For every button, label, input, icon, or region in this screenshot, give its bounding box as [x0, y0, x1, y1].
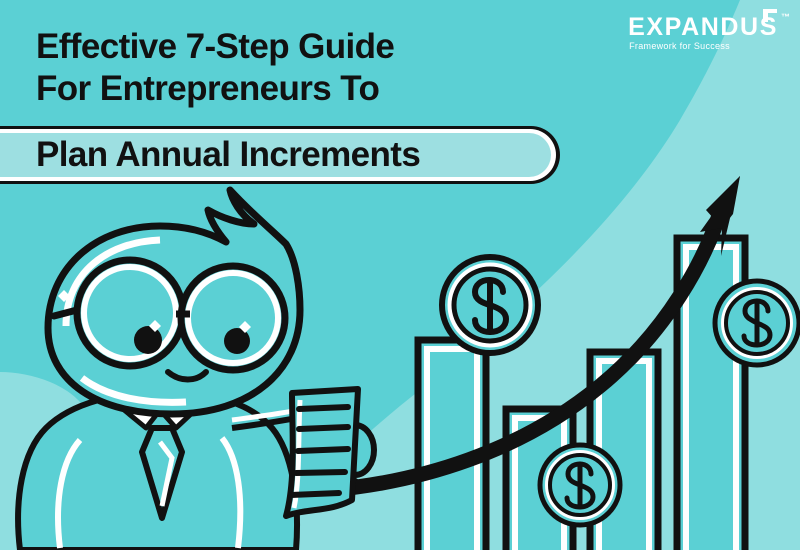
- headline-highlight-text: Plan Annual Increments: [36, 126, 420, 184]
- logo-wordmark: EXPANDUS: [628, 14, 778, 40]
- mascot-glasses-left: [77, 260, 183, 366]
- headline-block: Effective 7-Step Guide For Entrepreneurs…: [36, 26, 576, 110]
- mascot-glasses-right: [181, 266, 285, 370]
- headline-highlight-band: Plan Annual Increments: [0, 126, 560, 184]
- logo-trademark-icon: ™: [781, 12, 790, 22]
- chart-bar-1: [418, 340, 486, 550]
- logo-flag-icon: [762, 8, 778, 24]
- coin-2: [540, 445, 620, 525]
- coin-3: [715, 281, 799, 365]
- mascot-eye-left: [134, 326, 162, 354]
- headline-line-2: For Entrepreneurs To: [36, 68, 576, 110]
- poster-canvas: Effective 7-Step Guide For Entrepreneurs…: [0, 0, 800, 550]
- entrepreneur-mascot: [18, 190, 374, 550]
- coin-1: [442, 257, 538, 353]
- brand-logo[interactable]: EXPANDUS ™ Framework for Success: [628, 14, 778, 51]
- headline-line-1: Effective 7-Step Guide: [36, 26, 576, 68]
- logo-tagline: Framework for Success: [628, 41, 778, 51]
